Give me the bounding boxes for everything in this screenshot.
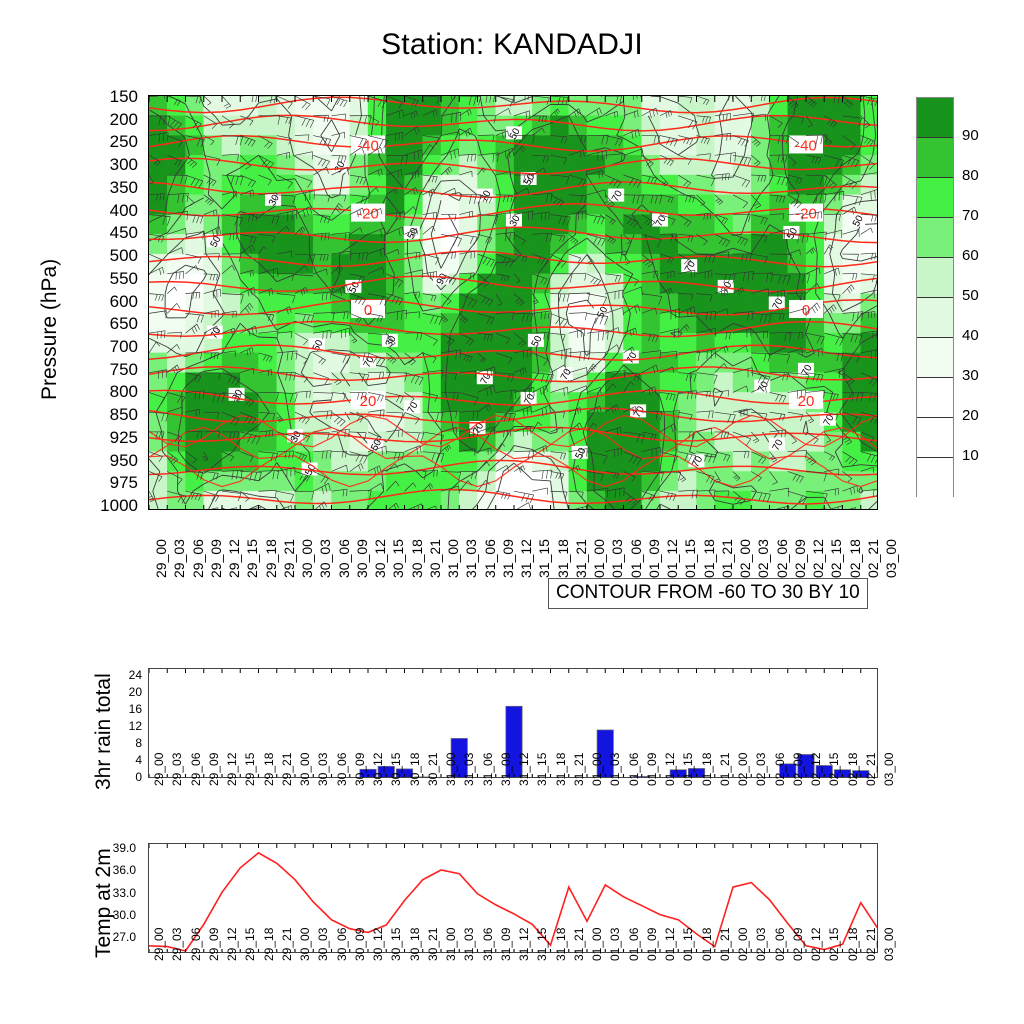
time-tick: 01_06 — [627, 928, 641, 961]
time-tick: 31_06 — [481, 928, 495, 961]
colorbar-label: 30 — [962, 367, 979, 384]
main-x-tick: 30_06 — [336, 539, 352, 578]
time-tick: 29_21 — [280, 753, 294, 786]
time-tick: 29_15 — [243, 928, 257, 961]
main-y-tick: 550 — [78, 269, 138, 289]
main-x-tick: 31_15 — [536, 539, 552, 578]
time-tick: 30_15 — [389, 928, 403, 961]
main-x-tick: 01_15 — [682, 539, 698, 578]
main-x-tick: 02_18 — [847, 539, 863, 578]
time-tick: 31_15 — [535, 928, 549, 961]
time-tick: 29_06 — [189, 928, 203, 961]
time-tick: 31_09 — [499, 928, 513, 961]
svg-text:0: 0 — [364, 302, 372, 319]
main-x-tick: 01_09 — [646, 539, 662, 578]
time-tick: 31_00 — [444, 753, 458, 786]
main-y-tick: 200 — [78, 110, 138, 130]
time-tick: 02_06 — [773, 753, 787, 786]
humidity-contour-plot: 5030305070305050507050305090707070707070… — [148, 95, 878, 510]
time-tick: 02_21 — [864, 753, 878, 786]
colorbar-label: 80 — [962, 167, 979, 184]
main-y-tick: 450 — [78, 223, 138, 243]
time-tick: 29_18 — [262, 753, 276, 786]
main-x-tick: 29_15 — [244, 539, 260, 578]
time-tick: 02_12 — [809, 928, 823, 961]
rain-chart — [148, 668, 878, 778]
colorbar-band — [917, 298, 953, 338]
main-x-tick: 01_00 — [591, 539, 607, 578]
main-x-tick: 31_06 — [482, 539, 498, 578]
main-y-tick: 300 — [78, 155, 138, 175]
page-title: Station: KANDADJI — [0, 28, 1024, 62]
main-x-tick: 31_03 — [463, 539, 479, 578]
time-tick: 02_03 — [754, 753, 768, 786]
svg-text:20: 20 — [798, 393, 815, 410]
colorbar-label: 90 — [962, 127, 979, 144]
time-tick: 30_03 — [316, 928, 330, 961]
main-x-tick: 01_03 — [609, 539, 625, 578]
time-tick: 30_09 — [353, 753, 367, 786]
time-tick: 02_09 — [791, 753, 805, 786]
humidity-colorbar — [916, 97, 954, 497]
time-tick: 01_15 — [681, 928, 695, 961]
temp-y-tick: 33.0 — [90, 886, 136, 900]
time-tick: 01_06 — [627, 753, 641, 786]
time-tick: 02_09 — [791, 928, 805, 961]
rain-y-tick: 0 — [96, 770, 142, 784]
time-tick: 01_18 — [700, 928, 714, 961]
time-tick: 30_06 — [335, 928, 349, 961]
main-x-tick: 01_18 — [701, 539, 717, 578]
main-x-tick: 02_00 — [737, 539, 753, 578]
time-tick: 31_15 — [535, 753, 549, 786]
main-x-tick: 30_03 — [317, 539, 333, 578]
time-tick: 31_18 — [554, 753, 568, 786]
main-y-axis-label: Pressure (hPa) — [38, 259, 62, 400]
time-tick: 02_00 — [736, 753, 750, 786]
svg-text:-40: -40 — [357, 137, 379, 154]
time-tick: 31_18 — [554, 928, 568, 961]
main-x-tick: 30_00 — [299, 539, 315, 578]
time-tick: 30_12 — [371, 928, 385, 961]
time-tick: 31_09 — [499, 753, 513, 786]
main-x-tick: 30_21 — [427, 539, 443, 578]
time-tick: 29_12 — [225, 753, 239, 786]
time-tick: 29_12 — [225, 928, 239, 961]
main-x-tick: 30_12 — [372, 539, 388, 578]
main-x-tick: 03_00 — [883, 539, 899, 578]
main-x-tick: 31_18 — [555, 539, 571, 578]
time-tick: 29_09 — [207, 928, 221, 961]
time-tick: 02_00 — [736, 928, 750, 961]
rain-y-tick: 16 — [96, 702, 142, 716]
main-x-tick: 02_06 — [774, 539, 790, 578]
time-tick: 31_03 — [462, 753, 476, 786]
colorbar-band — [917, 98, 953, 138]
main-x-tick: 02_09 — [792, 539, 808, 578]
time-tick: 31_12 — [517, 753, 531, 786]
main-x-tick: 29_18 — [263, 539, 279, 578]
time-tick: 03_00 — [882, 753, 896, 786]
time-tick: 29_06 — [189, 753, 203, 786]
colorbar-band — [917, 138, 953, 178]
main-x-tick: 31_00 — [445, 539, 461, 578]
temp-y-tick: 30.0 — [90, 908, 136, 922]
time-tick: 30_09 — [353, 928, 367, 961]
main-y-tick: 150 — [78, 87, 138, 107]
rain-y-tick: 20 — [96, 685, 142, 699]
time-tick: 30_21 — [426, 753, 440, 786]
svg-text:-20: -20 — [357, 206, 379, 223]
time-tick: 03_00 — [882, 928, 896, 961]
main-y-tick: 400 — [78, 201, 138, 221]
colorbar-label: 40 — [962, 327, 979, 344]
main-x-tick: 29_06 — [190, 539, 206, 578]
time-tick: 02_21 — [864, 928, 878, 961]
time-tick: 30_06 — [335, 753, 349, 786]
main-x-tick: 29_00 — [153, 539, 169, 578]
main-x-tick: 29_21 — [281, 539, 297, 578]
main-x-tick: 31_21 — [573, 539, 589, 578]
main-y-tick: 600 — [78, 292, 138, 312]
time-tick: 02_18 — [846, 753, 860, 786]
time-tick: 01_18 — [700, 753, 714, 786]
time-tick: 02_15 — [827, 928, 841, 961]
time-tick: 29_00 — [152, 928, 166, 961]
time-tick: 02_03 — [754, 928, 768, 961]
main-x-tick: 29_12 — [226, 539, 242, 578]
main-y-tick: 925 — [78, 428, 138, 448]
time-tick: 30_00 — [298, 928, 312, 961]
time-tick: 31_21 — [572, 928, 586, 961]
temp-y-tick: 36.0 — [90, 863, 136, 877]
time-tick: 30_18 — [408, 928, 422, 961]
main-x-tick: 02_12 — [810, 539, 826, 578]
main-y-tick: 1000 — [78, 496, 138, 516]
time-tick: 29_00 — [152, 753, 166, 786]
time-tick: 29_03 — [170, 753, 184, 786]
main-y-tick: 950 — [78, 451, 138, 471]
time-tick: 29_15 — [243, 753, 257, 786]
temp-chart — [148, 843, 878, 953]
main-x-tick: 01_12 — [664, 539, 680, 578]
colorbar-label: 10 — [962, 447, 979, 464]
main-y-tick: 800 — [78, 382, 138, 402]
main-y-tick: 975 — [78, 473, 138, 493]
time-tick: 30_15 — [389, 753, 403, 786]
time-tick: 01_21 — [718, 753, 732, 786]
colorbar-band — [917, 378, 953, 418]
time-tick: 31_21 — [572, 753, 586, 786]
time-tick: 01_00 — [590, 753, 604, 786]
main-y-tick: 650 — [78, 314, 138, 334]
colorbar-label: 60 — [962, 247, 979, 264]
time-tick: 01_12 — [663, 753, 677, 786]
main-x-tick: 29_09 — [208, 539, 224, 578]
time-tick: 02_18 — [846, 928, 860, 961]
time-tick: 29_18 — [262, 928, 276, 961]
svg-text:-40: -40 — [795, 137, 817, 154]
main-y-tick: 750 — [78, 360, 138, 380]
rain-y-tick: 24 — [96, 668, 142, 682]
rain-y-tick: 8 — [96, 736, 142, 750]
time-tick: 29_21 — [280, 928, 294, 961]
colorbar-band — [917, 218, 953, 258]
rain-y-tick: 4 — [96, 753, 142, 767]
main-x-tick: 01_06 — [628, 539, 644, 578]
time-tick: 30_00 — [298, 753, 312, 786]
time-tick: 01_00 — [590, 928, 604, 961]
main-y-tick: 700 — [78, 337, 138, 357]
colorbar-band — [917, 418, 953, 458]
time-tick: 30_18 — [408, 753, 422, 786]
temp-y-tick: 39.0 — [90, 841, 136, 855]
main-y-tick: 850 — [78, 405, 138, 425]
main-y-tick: 350 — [78, 178, 138, 198]
main-x-tick: 30_09 — [354, 539, 370, 578]
main-x-tick: 30_18 — [409, 539, 425, 578]
time-tick: 01_03 — [608, 753, 622, 786]
main-x-tick: 29_03 — [171, 539, 187, 578]
time-tick: 02_06 — [773, 928, 787, 961]
temp-y-tick: 27.0 — [90, 930, 136, 944]
main-x-tick: 02_15 — [828, 539, 844, 578]
time-tick: 31_06 — [481, 753, 495, 786]
time-tick: 31_12 — [517, 928, 531, 961]
colorbar-band — [917, 458, 953, 498]
colorbar-band — [917, 338, 953, 378]
time-tick: 01_12 — [663, 928, 677, 961]
time-tick: 31_03 — [462, 928, 476, 961]
colorbar-label: 70 — [962, 207, 979, 224]
time-tick: 29_03 — [170, 928, 184, 961]
main-x-tick: 02_21 — [865, 539, 881, 578]
main-x-tick: 02_03 — [755, 539, 771, 578]
time-tick: 01_09 — [645, 928, 659, 961]
colorbar-label: 20 — [962, 407, 979, 424]
contour-note: CONTOUR FROM -60 TO 30 BY 10 — [548, 578, 868, 609]
time-tick: 30_03 — [316, 753, 330, 786]
main-x-tick: 01_21 — [719, 539, 735, 578]
time-tick: 01_03 — [608, 928, 622, 961]
colorbar-band — [917, 178, 953, 218]
main-y-tick: 500 — [78, 246, 138, 266]
time-tick: 01_09 — [645, 753, 659, 786]
main-x-tick: 31_12 — [518, 539, 534, 578]
time-tick: 30_21 — [426, 928, 440, 961]
time-tick: 30_12 — [371, 753, 385, 786]
colorbar-label: 50 — [962, 287, 979, 304]
time-tick: 29_09 — [207, 753, 221, 786]
time-tick: 02_15 — [827, 753, 841, 786]
time-tick: 01_21 — [718, 928, 732, 961]
main-y-tick: 250 — [78, 132, 138, 152]
colorbar-band — [917, 258, 953, 298]
rain-y-tick: 12 — [96, 719, 142, 733]
main-x-tick: 30_15 — [390, 539, 406, 578]
time-tick: 01_15 — [681, 753, 695, 786]
main-x-tick: 31_09 — [500, 539, 516, 578]
time-tick: 02_12 — [809, 753, 823, 786]
time-tick: 31_00 — [444, 928, 458, 961]
